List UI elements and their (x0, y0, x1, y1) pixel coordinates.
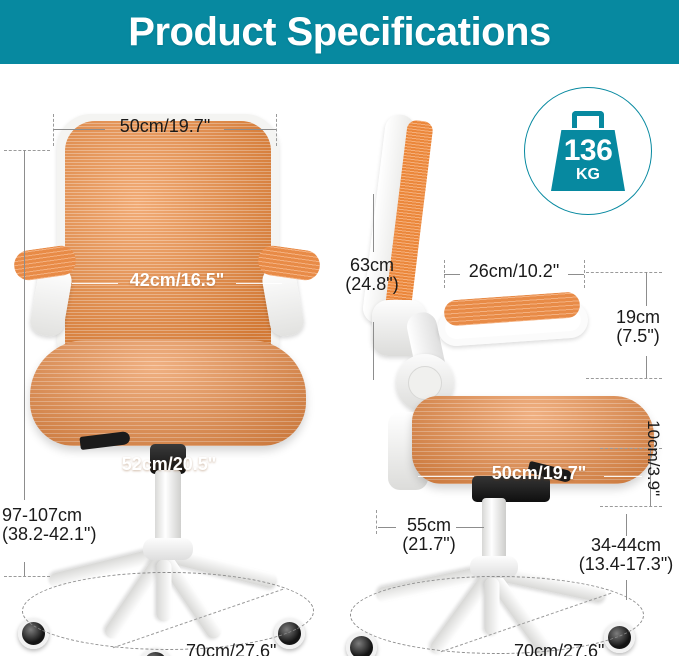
side-armrest-length-label: 26cm/10.2" (452, 262, 576, 281)
armrest-height-line-bottom (646, 356, 647, 378)
height-dim-line (24, 150, 25, 500)
width-dim-line-right (224, 129, 276, 130)
front-backrest-width-label: 42cm/16.5" (112, 271, 242, 290)
side-seat-to-back-in: (21.7") (372, 535, 486, 554)
front-overall-width-label: 50cm/19.7" (105, 117, 225, 136)
height-extension-top (4, 150, 50, 151)
seat-height-line-bottom (626, 580, 627, 600)
front-overall-height-in: (38.2-42.1") (2, 525, 96, 544)
product-specifications-page: Product Specifications 136 KG (0, 0, 679, 656)
side-backrest-height-cm: 63cm (350, 255, 394, 275)
height-dim-line-lower (24, 562, 25, 576)
side-armrest-height-label: 19cm (7.5") (598, 308, 678, 347)
armrest-adjust-ext-bottom (600, 506, 662, 507)
specification-diagram: 136 KG (0, 64, 679, 656)
side-seat-to-back-cm: 55cm (407, 515, 451, 535)
side-backrest-height-label: 63cm (24.8") (322, 256, 422, 295)
armrest-height-line-top (646, 272, 647, 306)
side-seat-height-label: 34-44cm (13.4-17.3") (570, 536, 679, 575)
seat-depth-line-left (418, 476, 474, 477)
gas-lift-column (155, 470, 181, 546)
armrest-height-ext-top (586, 272, 662, 273)
base-hub (143, 538, 193, 560)
page-header: Product Specifications (0, 0, 679, 64)
front-base-diameter-label: 70cm/27.6" (186, 642, 276, 656)
width-extension-left (53, 114, 54, 146)
seat-width-line-left (44, 467, 100, 468)
page-title: Product Specifications (128, 12, 550, 52)
seat-shading (30, 340, 306, 446)
armrest-left (12, 248, 78, 334)
armrest-height-ext-bottom (586, 378, 662, 379)
seat-width-line-right (238, 467, 294, 468)
width-dim-line-left (53, 129, 105, 130)
front-overall-height-label: 97-107cm (38.2-42.1") (2, 506, 96, 545)
side-armrest-height-cm: 19cm (616, 307, 660, 327)
seat-width-tick-left (44, 461, 45, 473)
backrest-height-line-top (373, 194, 374, 252)
side-seat-depth-label: 50cm/19.7" (470, 464, 608, 483)
side-armrest-height-in: (7.5") (598, 327, 678, 346)
backrest-shading (65, 121, 271, 358)
side-seat-height-in: (13.4-17.3") (570, 555, 679, 574)
armrest-extension-right (584, 260, 585, 288)
seat-height-line-top (626, 514, 627, 536)
backrest-height-line-bottom (373, 322, 374, 380)
seat-depth-line-right (604, 476, 642, 477)
base-hub-side (470, 556, 518, 578)
height-extension-bottom (4, 576, 50, 577)
front-overall-height-cm: 97-107cm (2, 505, 82, 525)
armrest-right (256, 248, 322, 334)
seat-width-tick-right (294, 461, 295, 473)
side-seat-height-cm: 34-44cm (591, 535, 661, 555)
side-backrest-height-in: (24.8") (322, 275, 422, 294)
backrest-width-line-right (236, 283, 282, 284)
side-seat-to-back-label: 55cm (21.7") (372, 516, 486, 555)
front-seat-width-label: 52cm/20.5" (96, 455, 242, 474)
side-armrest-adjust-label: 10cm/3.9" (644, 420, 662, 486)
base-diameter-ellipse (22, 572, 314, 650)
side-base-diameter-label: 70cm/27.6" (514, 642, 604, 656)
width-extension-right (276, 114, 277, 146)
tilt-mechanism-cap (408, 366, 442, 400)
